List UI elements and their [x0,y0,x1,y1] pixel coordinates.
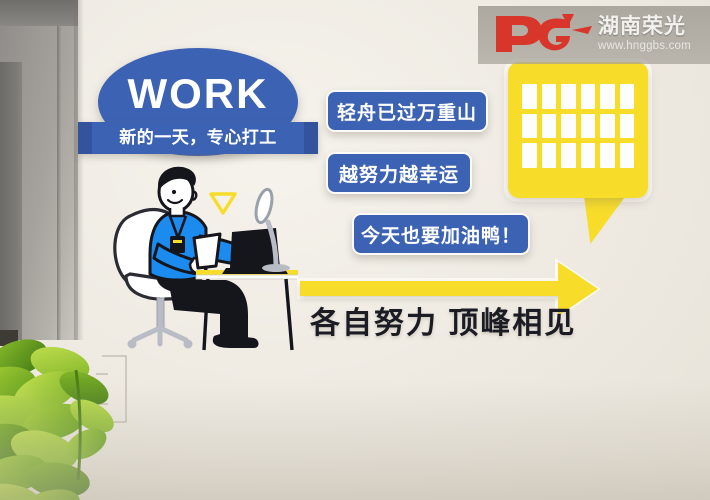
bubble-grid-cell [561,143,576,168]
bubble-grid-cell [561,84,576,109]
bubble-grid-cell [561,114,576,139]
tagline-ribbon: 新的一天，专心打工 [78,122,318,154]
bubble-grid-cell [542,143,557,168]
triangle-accent-icon [208,190,238,216]
company-website: www.hnggbs.com [598,39,710,53]
wall-column-seam [57,0,61,340]
bubble-grid-cell [522,84,537,109]
bubble-grid-cell [542,114,557,139]
slogan-pill-2: 越努力越幸运 [326,152,472,194]
ribbon-text: 新的一天，专心打工 [78,122,318,154]
slogan-pill-3: 今天也要加油鸭！ [352,213,530,255]
wall-scene: WORK 新的一天，专心打工 轻舟已过万重山 越努力越幸运 今天也要加油鸭！ 各… [0,0,710,500]
bottom-slogan: 各自努力 顶峰相见 [310,298,576,342]
bubble-grid-cell [620,84,635,109]
bubble-grid-cell [600,143,615,168]
bubble-grid-cell [581,84,596,109]
bubble-grid-cell [600,84,615,109]
slogan-pill-1: 轻舟已过万重山 [326,90,488,132]
wall-column-recess [0,62,22,340]
person-at-desk-illustration [108,158,298,353]
company-name: 湖南荣光 [598,14,710,39]
bubble-grid-cell [620,114,635,139]
watermark-text: 湖南荣光 www.hnggbs.com [598,14,710,53]
bubble-grid-cell [581,114,596,139]
bubble-grid-cell [620,143,635,168]
bubble-grid-cell [522,143,537,168]
arrow-shaft [300,281,565,296]
work-title: WORK [98,72,298,116]
bubble-grid-cell [542,84,557,109]
company-logo-icon [492,12,592,56]
bubble-grid-cell [600,114,615,139]
speech-bubble-grid [522,84,634,168]
floor-gradient [0,380,710,500]
wall-column-edge-shadow [74,0,84,340]
bubble-grid-cell [581,143,596,168]
wall-column-top [0,0,78,26]
bubble-grid-cell [522,114,537,139]
